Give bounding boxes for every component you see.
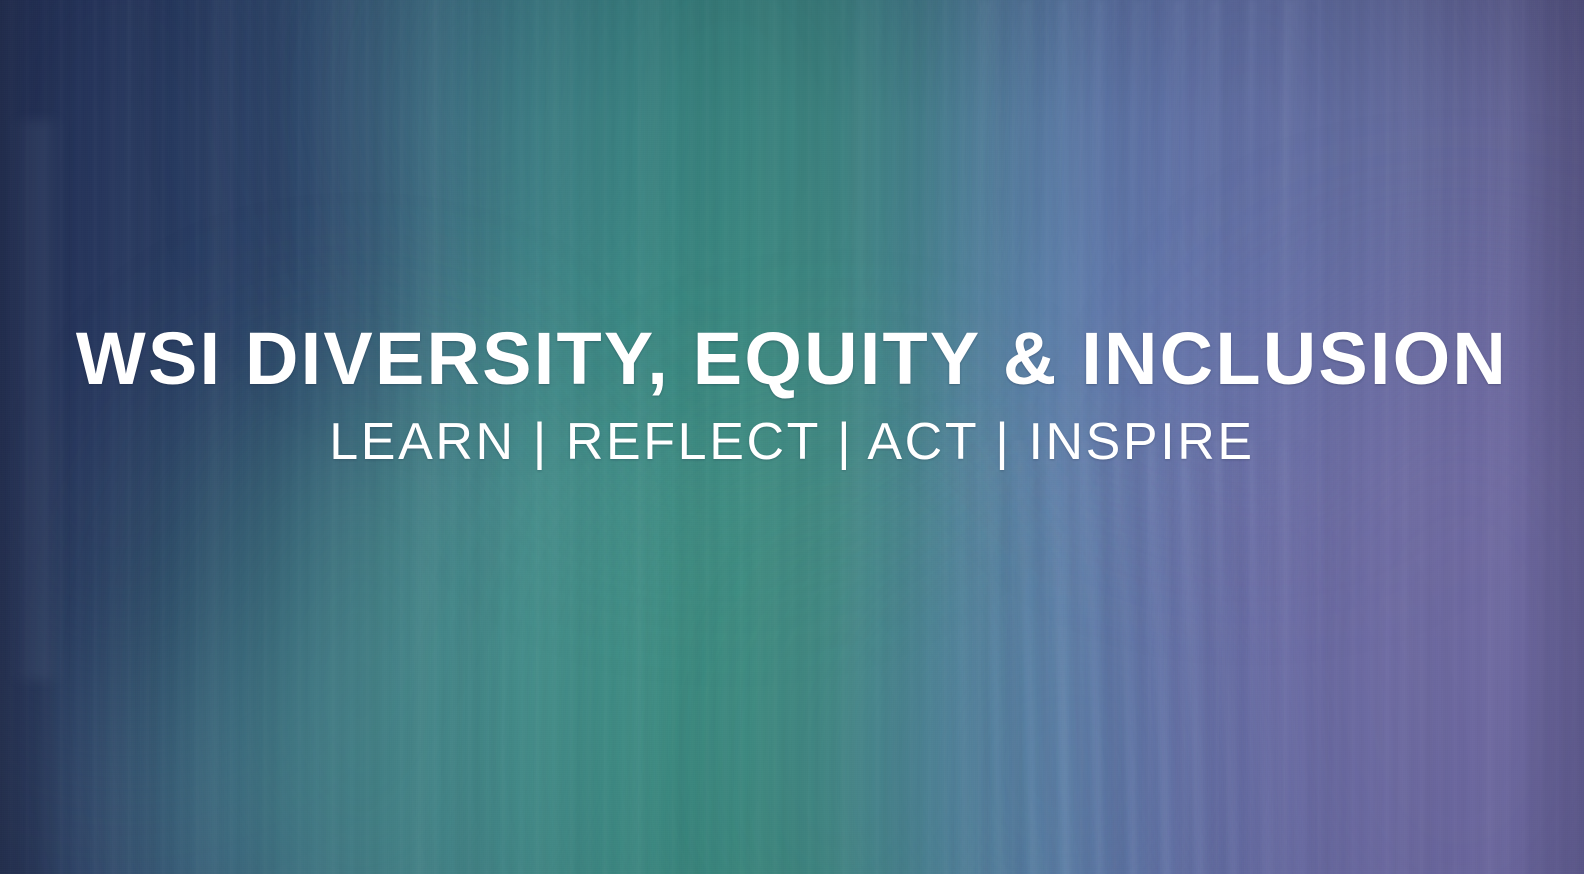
dei-hero-banner: WSI DIVERSITY, EQUITY & INCLUSION LEARN …	[0, 0, 1584, 874]
banner-headline: WSI DIVERSITY, EQUITY & INCLUSION	[0, 320, 1584, 398]
banner-subheadline: LEARN | REFLECT | ACT | INSPIRE	[0, 414, 1584, 470]
banner-content: WSI DIVERSITY, EQUITY & INCLUSION LEARN …	[0, 0, 1584, 874]
